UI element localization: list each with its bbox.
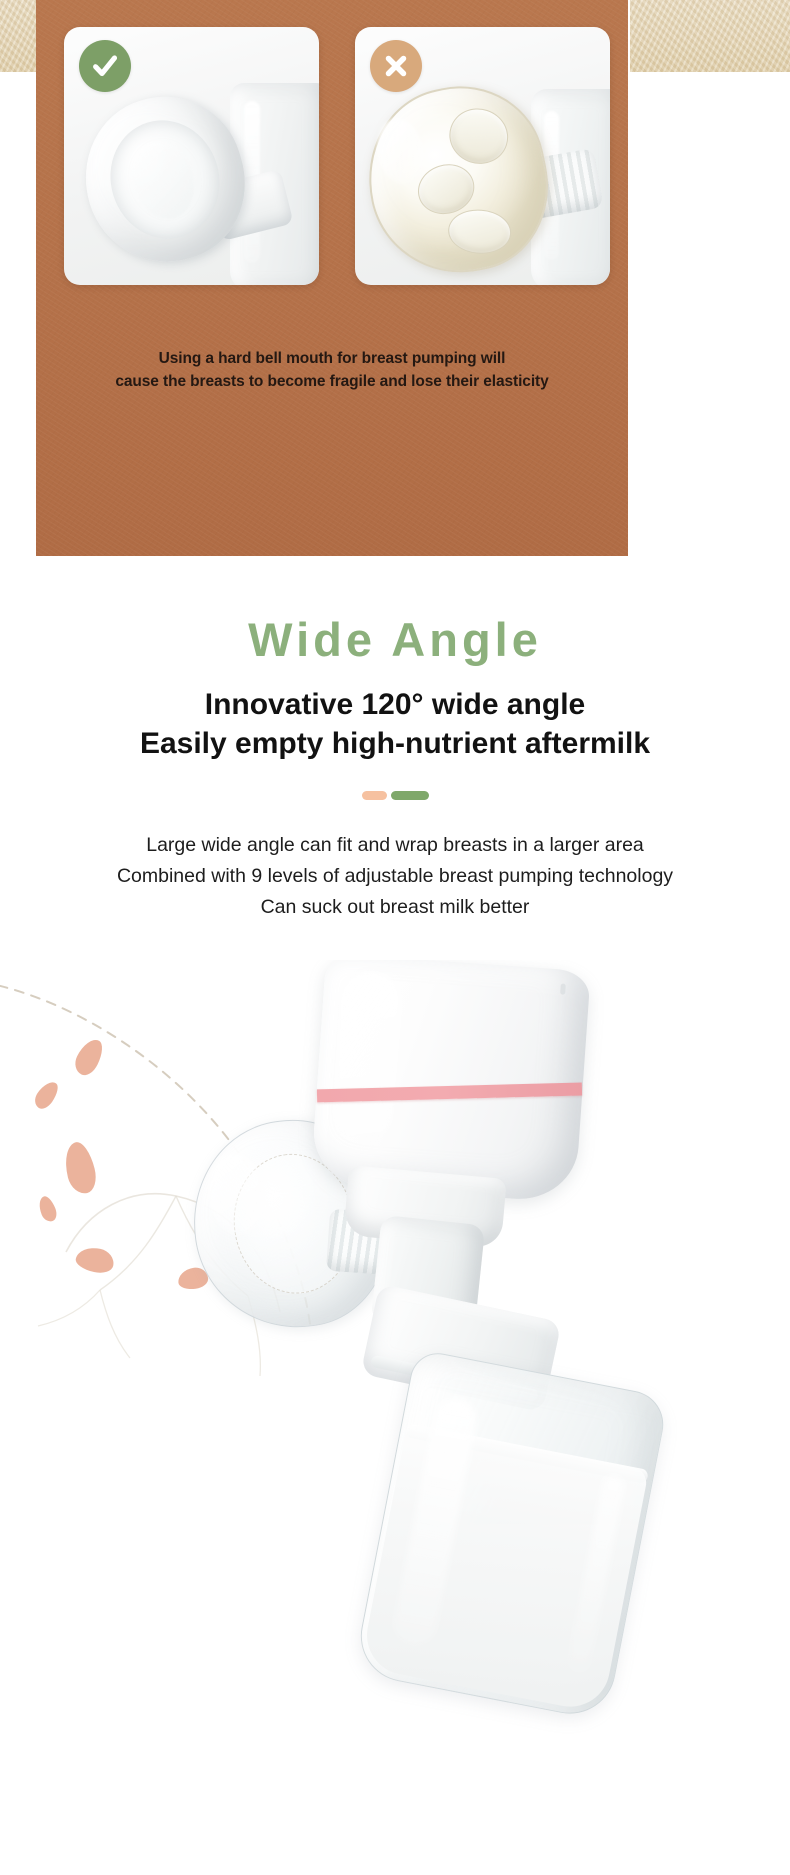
body-line-3: Can suck out breast milk better <box>0 892 790 923</box>
funnel-flap-1 <box>442 101 515 171</box>
body-line-2: Combined with 9 levels of adjustable bre… <box>0 861 790 892</box>
subtitle-line-2: Easily empty high-nutrient aftermilk <box>0 724 790 763</box>
divider-pill-green <box>391 791 429 800</box>
motor-highlight <box>331 970 403 1146</box>
cross-icon <box>370 40 422 92</box>
page-title: Wide Angle <box>0 612 790 667</box>
breast-pump-product <box>150 960 790 1875</box>
brown-panel: Using a hard bell mouth for breast pumpi… <box>36 0 628 556</box>
hero-product-section <box>0 960 790 1875</box>
beige-texture-strip-left <box>0 0 38 72</box>
milk-bottle <box>353 1348 669 1721</box>
pump-motor-unit <box>310 960 591 1203</box>
body-paragraph: Large wide angle can fit and wrap breast… <box>0 830 790 924</box>
wide-angle-section: Wide Angle Innovative 120° wide angle Ea… <box>0 558 790 960</box>
comparison-caption: Using a hard bell mouth for breast pumpi… <box>36 348 628 394</box>
subtitle-group: Innovative 120° wide angle Easily empty … <box>0 685 790 763</box>
product-photo <box>0 960 790 1875</box>
section-divider <box>357 791 433 800</box>
body-line-1: Large wide angle can fit and wrap breast… <box>0 830 790 861</box>
incorrect-usage-card[interactable] <box>355 27 610 285</box>
comparison-cards-row <box>64 27 610 285</box>
funnel-flap-3 <box>447 207 513 255</box>
correct-usage-card[interactable] <box>64 27 319 285</box>
check-icon <box>79 40 131 92</box>
comparison-section: Using a hard bell mouth for breast pumpi… <box>0 0 790 558</box>
divider-pill-peach <box>362 791 387 800</box>
beige-texture-strip-right <box>630 0 790 72</box>
motor-indicator <box>560 983 566 994</box>
caption-line-2: cause the breasts to become fragile and … <box>36 371 628 394</box>
caption-line-1: Using a hard bell mouth for breast pumpi… <box>36 348 628 371</box>
subtitle-line-1: Innovative 120° wide angle <box>0 685 790 724</box>
